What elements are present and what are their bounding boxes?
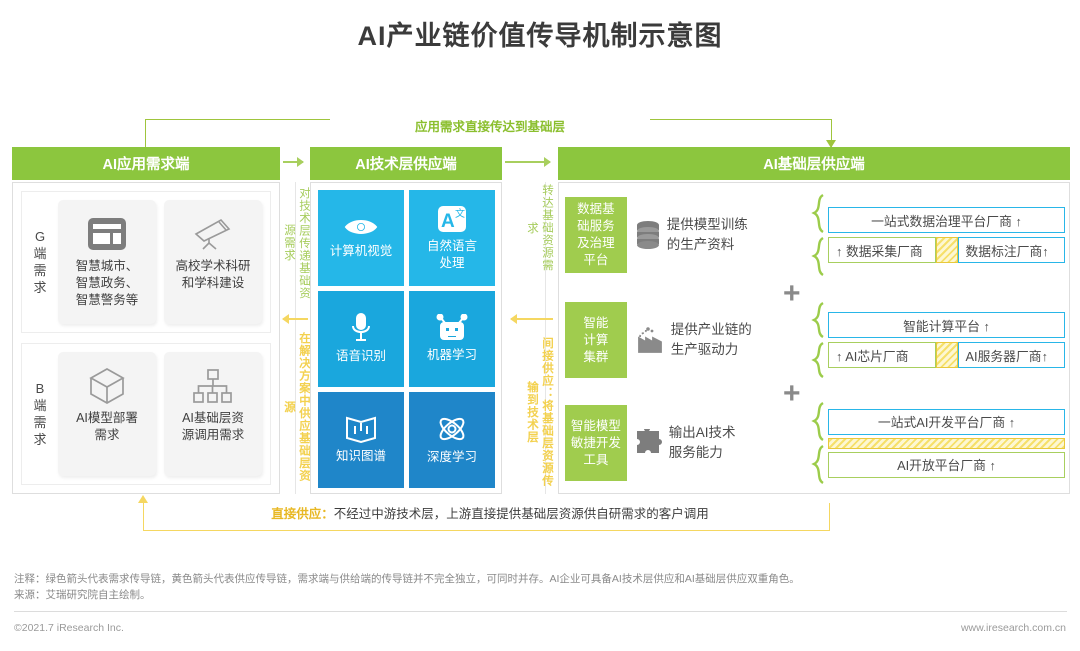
- hierarchy-icon: [191, 362, 235, 410]
- tech-tile-label: 机器学习: [427, 347, 477, 364]
- vendor-stack-3: 一站式AI开发平台厂商 ↑ AI开放平台厂商 ↑: [828, 409, 1065, 478]
- brace-icon: [808, 401, 828, 485]
- connector-col1-yellow-label: 在解决方案中供应基础层资源: [281, 332, 311, 482]
- demand-side-label-g: G端需求: [22, 228, 58, 296]
- footer-divider: [14, 611, 1067, 612]
- dashboard-icon: [87, 210, 127, 258]
- base-row-agile-dev-tools: 智能模型敏捷开发工具 输出AI技术服务能力 一站式AI开发平台厂商 ↑ AI开放…: [565, 399, 1065, 487]
- base-row-compute-cluster: 智能计算集群 提供产业链的生产驱动力 智能计算平台 ↑ ↑ AI芯片厂商: [565, 300, 1065, 380]
- hatched-overlap-bar: [828, 438, 1065, 449]
- website-link[interactable]: www.iresearch.com.cn: [961, 622, 1066, 634]
- demand-card-smart-city[interactable]: 智慧城市、智慧政务、智慧警务等: [58, 200, 156, 324]
- base-row-description: 提供产业链的生产驱动力: [627, 320, 808, 360]
- connector-col2-green-label: 转达基础资源需求: [524, 184, 554, 272]
- header-arrow-demand-to-tech: [283, 161, 303, 163]
- vendor-stack-2: 智能计算平台 ↑ ↑ AI芯片厂商 AI服务器厂商↑: [828, 312, 1065, 368]
- demand-card-caption: 高校学术科研和学科建设: [175, 258, 250, 292]
- svg-text:文: 文: [455, 207, 465, 220]
- demand-card-caption: AI基础层资源调用需求: [182, 410, 245, 444]
- base-row-desc-text: 提供模型训练的生产资料: [667, 215, 748, 255]
- base-row-tag: 智能模型敏捷开发工具: [565, 405, 627, 481]
- connector-col-1-yellow: 在解决方案中供应基础层资源: [281, 332, 311, 482]
- demand-card-caption: 智慧城市、智慧政务、智慧警务等: [76, 258, 139, 309]
- vendor-stack-1: 一站式数据治理平台厂商 ↑ ↑ 数据采集厂商 数据标注厂商↑: [828, 207, 1065, 263]
- notes-block: 注释：绿色箭头代表需求传导链，黄色箭头代表供应传导链，需求端与供给端的传导链并不…: [14, 571, 1069, 603]
- top-flow-label: 应用需求直接传达到基础层: [330, 119, 650, 135]
- tech-tile-knowledge-graph[interactable]: 知识图谱: [318, 392, 404, 488]
- eye-icon: [344, 216, 378, 238]
- header-demand: AI应用需求端: [12, 147, 280, 180]
- tech-tile-label: 知识图谱: [336, 448, 386, 465]
- demand-side-label-b: B端需求: [22, 380, 58, 448]
- book-map-icon: [345, 415, 377, 443]
- base-row-data-service: 数据基础服务及治理平台 提供模型训练的生产资料 一站式数据治理平台厂商 ↑ ↑ …: [565, 191, 1065, 279]
- bottom-flow-arrowhead: [138, 495, 148, 503]
- bottom-flow-bold: 直接供应：: [271, 507, 334, 521]
- tech-tile-label: 自然语言处理: [427, 238, 477, 272]
- bottom-flow-label: 直接供应：不经过中游技术层，上游直接提供基础层资源供自研需求的客户调用: [190, 504, 790, 524]
- demand-group-g: G端需求 智慧城市、智慧政务、智慧警务等 高校学术科研和学科建设: [21, 191, 271, 333]
- demand-card-caption: AI模型部署需求: [76, 410, 138, 444]
- base-panel: 数据基础服务及治理平台 提供模型训练的生产资料 一站式数据治理平台厂商 ↑ ↑ …: [558, 182, 1070, 494]
- tech-tile-machine-learning[interactable]: 机器学习: [409, 291, 495, 387]
- hatched-overlap-marker: [936, 237, 958, 263]
- database-icon: [635, 220, 661, 250]
- robot-icon: [436, 314, 468, 342]
- base-row-tag: 智能计算集群: [565, 302, 627, 378]
- tech-tile-speech[interactable]: 语音识别: [318, 291, 404, 387]
- vendor-box-data-annotation[interactable]: 数据标注厂商↑: [958, 237, 1066, 263]
- base-row-description: 输出AI技术服务能力: [627, 423, 808, 463]
- connector-col1-green-label: 对技术层传递基础资源需求: [281, 184, 311, 302]
- tech-tile-computer-vision[interactable]: 计算机视觉: [318, 190, 404, 286]
- header-tech: AI技术层供应端: [310, 147, 502, 180]
- tech-tile-grid: 计算机视觉 A文 自然语言处理 语音识别 机器学习: [318, 190, 495, 488]
- connector-col-2: 转达基础资源需求: [524, 184, 554, 272]
- tech-panel: 计算机视觉 A文 自然语言处理 语音识别 机器学习: [310, 182, 502, 494]
- infographic-root: AI产业链价值传导机制示意图 应用需求直接传达到基础层 AI应用需求端 AI技术…: [0, 0, 1080, 651]
- base-row-desc-text: 输出AI技术服务能力: [669, 423, 736, 463]
- tech-tile-label: 深度学习: [427, 449, 477, 466]
- demand-group-b: B端需求 AI模型部署需求 AI基础层资源调用需求: [21, 343, 271, 485]
- svg-text:A: A: [441, 211, 455, 232]
- base-row-desc-text: 提供产业链的生产驱动力: [671, 320, 752, 360]
- cube-icon: [87, 362, 127, 410]
- header-base: AI基础层供应端: [558, 147, 1070, 180]
- note-line-1: 注释：绿色箭头代表需求传导链，黄色箭头代表供应传导链，需求端与供给端的传导链并不…: [14, 571, 1069, 587]
- bottom-flow-text: 不经过中游技术层，上游直接提供基础层资源供自研需求的客户调用: [334, 507, 709, 521]
- vendor-split-row: ↑ 数据采集厂商 数据标注厂商↑: [828, 237, 1065, 263]
- tech-tile-deep-learning[interactable]: 深度学习: [409, 392, 495, 488]
- vendor-box-one-stop-ai-dev-platform[interactable]: 一站式AI开发平台厂商 ↑: [828, 409, 1065, 435]
- brace-icon: [808, 193, 828, 277]
- demand-panel: G端需求 智慧城市、智慧政务、智慧警务等 高校学术科研和学科建设 B端需求: [12, 182, 280, 494]
- header-arrow-tech-to-base: [505, 161, 550, 163]
- tech-tile-label: 计算机视觉: [330, 243, 393, 260]
- connector-col2-yellow-label: 间接供应：将基础层资源传输到技术层: [524, 332, 554, 492]
- factory-icon: [635, 326, 665, 354]
- brace-icon: [808, 298, 828, 382]
- connector-col2-yellow-arrow: [511, 318, 553, 320]
- vendor-box-ai-server[interactable]: AI服务器厂商↑: [958, 342, 1066, 368]
- connector-col-2-yellow: 间接供应：将基础层资源传输到技术层: [524, 332, 554, 492]
- microphone-icon: [350, 313, 372, 343]
- demand-card-base-resource[interactable]: AI基础层资源调用需求: [164, 352, 262, 476]
- copyright-text: ©2021.7 iResearch Inc.: [14, 622, 124, 634]
- base-row-tag: 数据基础服务及治理平台: [565, 197, 627, 273]
- demand-card-model-deploy[interactable]: AI模型部署需求: [58, 352, 156, 476]
- vendor-box-ai-open-platform[interactable]: AI开放平台厂商 ↑: [828, 452, 1065, 478]
- puzzle-icon: [635, 429, 663, 457]
- translate-icon: A文: [437, 205, 467, 233]
- base-row-description: 提供模型训练的生产资料: [627, 215, 808, 255]
- vendor-box-ai-chip[interactable]: ↑ AI芯片厂商: [828, 342, 936, 368]
- vendor-box-data-collection[interactable]: ↑ 数据采集厂商: [828, 237, 936, 263]
- page-title: AI产业链价值传导机制示意图: [0, 14, 1080, 53]
- vendor-split-row: ↑ AI芯片厂商 AI服务器厂商↑: [828, 342, 1065, 368]
- hatched-overlap-marker: [936, 342, 958, 368]
- note-line-2: 来源：艾瑞研究院自主绘制。: [14, 587, 1069, 603]
- tech-tile-nlp[interactable]: A文 自然语言处理: [409, 190, 495, 286]
- vendor-box-intelligent-compute-platform[interactable]: 智能计算平台 ↑: [828, 312, 1065, 338]
- connector-col1-yellow-arrow: [283, 318, 308, 320]
- telescope-icon: [191, 210, 235, 258]
- tech-tile-label: 语音识别: [336, 348, 386, 365]
- vendor-box-one-stop-data-platform[interactable]: 一站式数据治理平台厂商 ↑: [828, 207, 1065, 233]
- atom-icon: [436, 414, 468, 444]
- demand-card-academic[interactable]: 高校学术科研和学科建设: [164, 200, 262, 324]
